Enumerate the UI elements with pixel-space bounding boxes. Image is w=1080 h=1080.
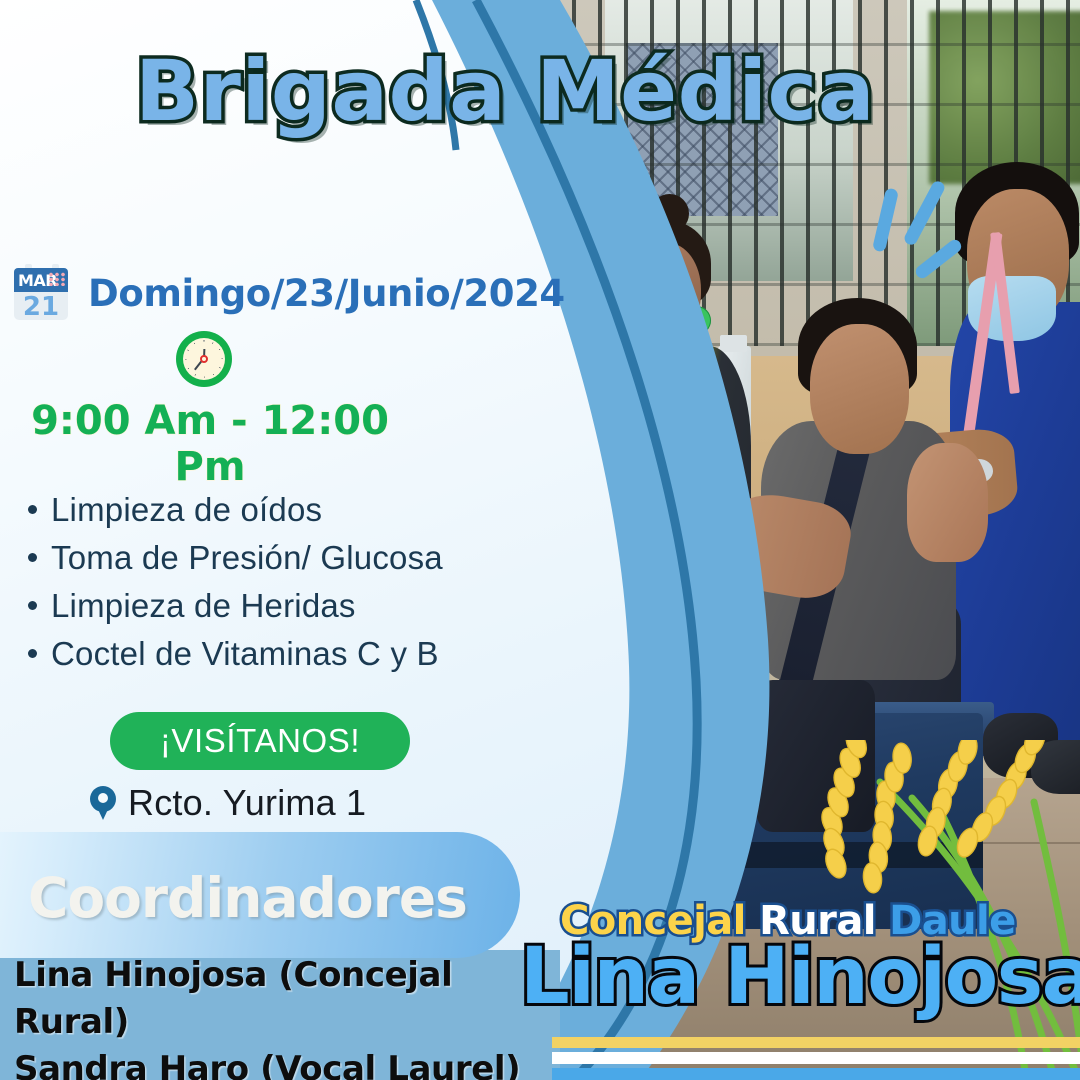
page-title: Brigada Médica <box>0 42 1010 140</box>
bullet-dot-icon <box>28 649 37 658</box>
list-item: Limpieza de oídos <box>28 486 528 534</box>
date-row: MAR 21 Domingo/23/Junio/2024 <box>0 262 520 324</box>
visit-us-button[interactable]: ¡VISÍTANOS! <box>110 712 410 770</box>
location-text: Rcto. Yurima 1 <box>128 782 366 824</box>
list-item: Toma de Presión/ Glucosa <box>28 534 528 582</box>
service-label: Coctel de Vitaminas C y B <box>51 630 439 678</box>
event-time-text: 9:00 Am - 12:00 Pm <box>0 398 420 490</box>
clock-icon <box>176 331 232 387</box>
poster-canvas: Brigada Médica MAR 21 Domingo/23/Junio/2… <box>0 0 1080 1080</box>
bullet-dot-icon <box>28 553 37 562</box>
sparkle-slash-icon <box>902 179 946 247</box>
calendar-icon: MAR 21 <box>10 262 72 324</box>
sparkle-slash-icon <box>872 187 899 252</box>
service-label: Toma de Presión/ Glucosa <box>51 534 443 582</box>
service-label: Limpieza de Heridas <box>51 582 356 630</box>
list-item: Limpieza de Heridas <box>28 582 528 630</box>
bullet-dot-icon <box>28 601 37 610</box>
calendar-day-label: 21 <box>10 292 72 322</box>
bullet-dot-icon <box>28 505 37 514</box>
location-row: Rcto. Yurima 1 <box>90 782 510 824</box>
map-pin-icon <box>90 786 116 820</box>
service-label: Limpieza de oídos <box>51 486 322 534</box>
footer-bar-blue <box>552 1068 1080 1080</box>
services-list: Limpieza de oídos Toma de Presión/ Gluco… <box>28 486 528 678</box>
signature-name: Lina Hinojosa <box>520 932 1080 1022</box>
footer-bar-white <box>552 1052 1080 1064</box>
event-date-text: Domingo/23/Junio/2024 <box>88 272 565 315</box>
footer-bar-yellow <box>552 1037 1080 1048</box>
sparkle-slash-icon <box>913 237 964 280</box>
list-item: Coctel de Vitaminas C y B <box>28 630 528 678</box>
